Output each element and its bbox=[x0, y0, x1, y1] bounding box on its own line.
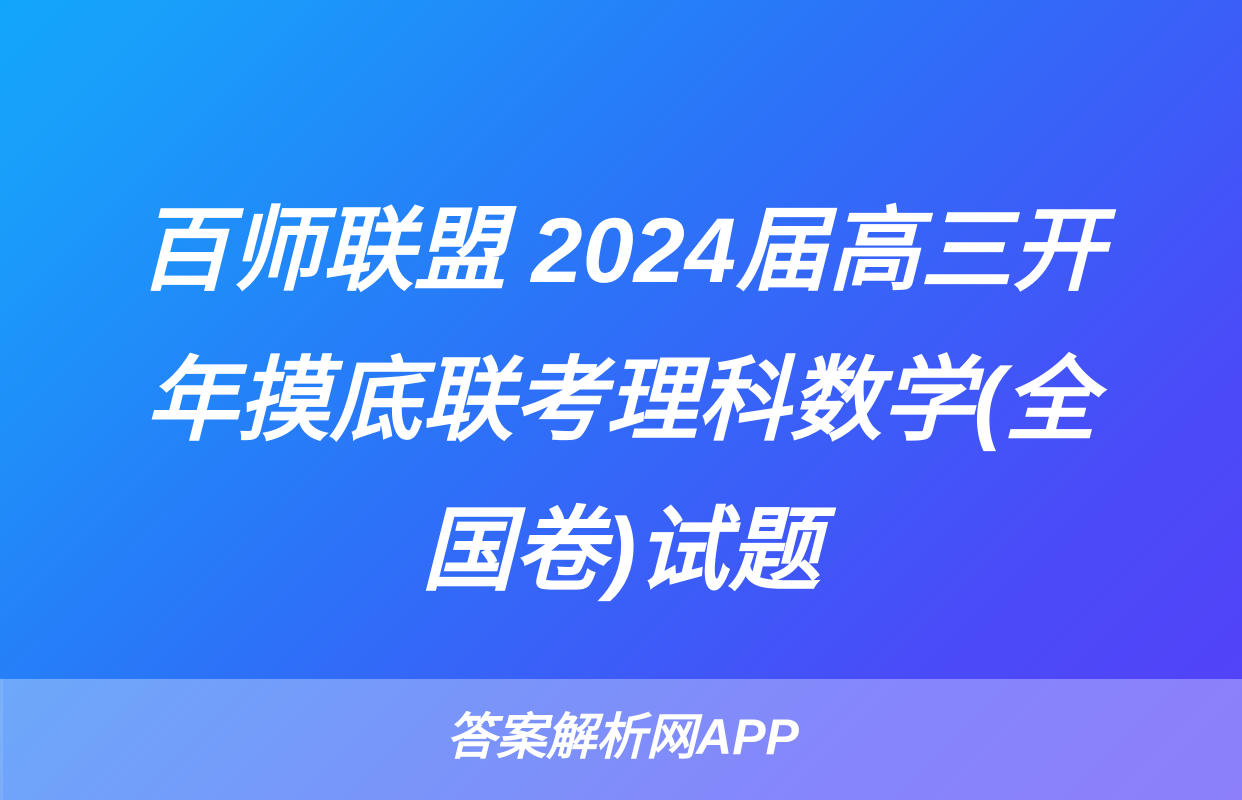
title-line-3: 国卷)试题 bbox=[48, 476, 1194, 626]
app-promo-band: 答案解析网APP bbox=[0, 679, 1242, 800]
app-promo-label: 答案解析网APP bbox=[3, 706, 1242, 768]
title-line-1: 百师联盟 2024届高三开 bbox=[48, 176, 1194, 326]
poster-container: 百师联盟 2024届高三开 年摸底联考理科数学(全 国卷)试题 答案解析网APP bbox=[0, 0, 1242, 800]
page-title: 百师联盟 2024届高三开 年摸底联考理科数学(全 国卷)试题 bbox=[0, 176, 1242, 626]
title-line-2: 年摸底联考理科数学(全 bbox=[48, 326, 1194, 476]
